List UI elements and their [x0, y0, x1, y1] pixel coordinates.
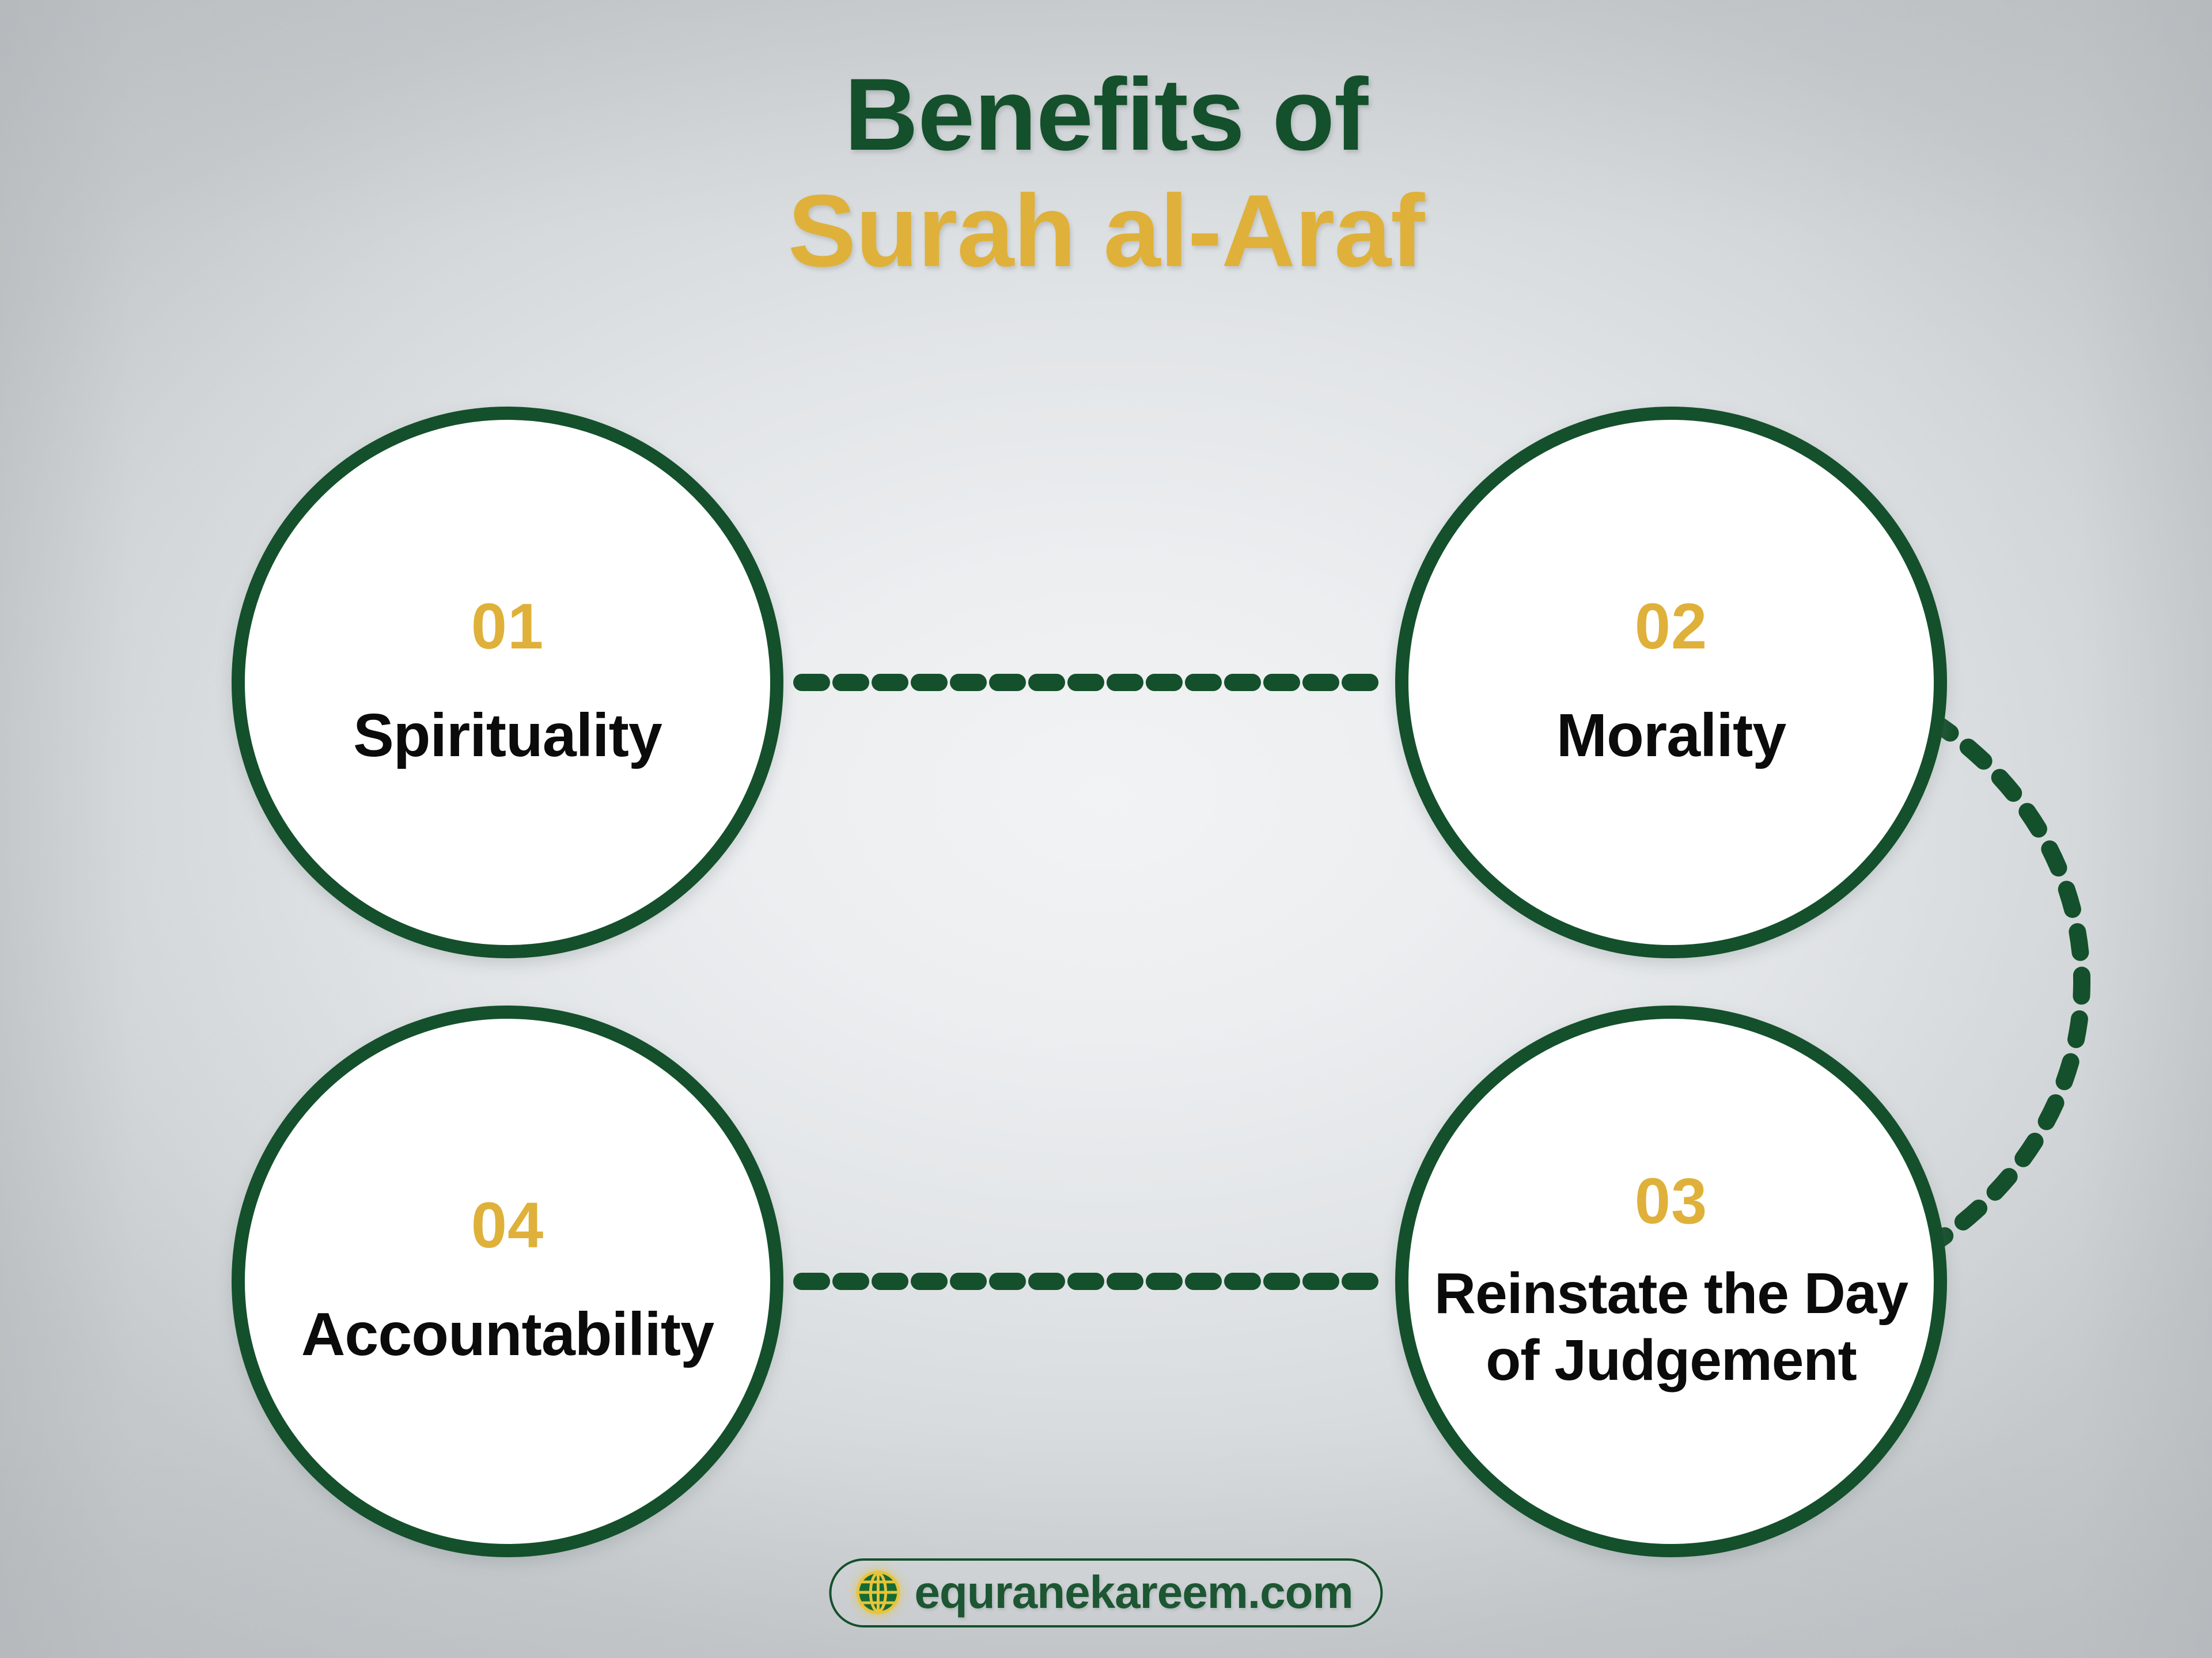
globe-icon [854, 1569, 902, 1616]
page-title: Benefits of Surah al-Araf [0, 62, 2212, 283]
node-label-02: Morality [1533, 700, 1809, 771]
site-badge[interactable]: equranekareem.com [829, 1558, 1382, 1627]
node-number-03: 03 [1635, 1169, 1708, 1234]
benefit-node-02[interactable]: 02 Morality [1395, 407, 1947, 958]
node-number-01: 01 [471, 594, 544, 659]
title-line-primary: Benefits of [0, 62, 2212, 167]
node-number-02: 02 [1635, 594, 1708, 659]
node-number-04: 04 [471, 1193, 544, 1258]
node-label-01: Spirituality [330, 700, 685, 771]
node-label-04: Accountability [278, 1299, 737, 1370]
site-url-label: equranekareem.com [914, 1569, 1353, 1615]
title-line-secondary: Surah al-Araf [0, 179, 2212, 283]
infographic-poster: Benefits of Surah al-Araf 01 Spiritualit… [0, 0, 2212, 1658]
benefit-node-03[interactable]: 03 Reinstate the Day of Judgement [1395, 1006, 1947, 1557]
benefit-node-01[interactable]: 01 Spirituality [232, 407, 783, 958]
benefit-node-04[interactable]: 04 Accountability [232, 1006, 783, 1557]
right-dashed-connector [1933, 721, 2082, 1244]
node-label-03: Reinstate the Day of Judgement [1408, 1260, 1934, 1394]
